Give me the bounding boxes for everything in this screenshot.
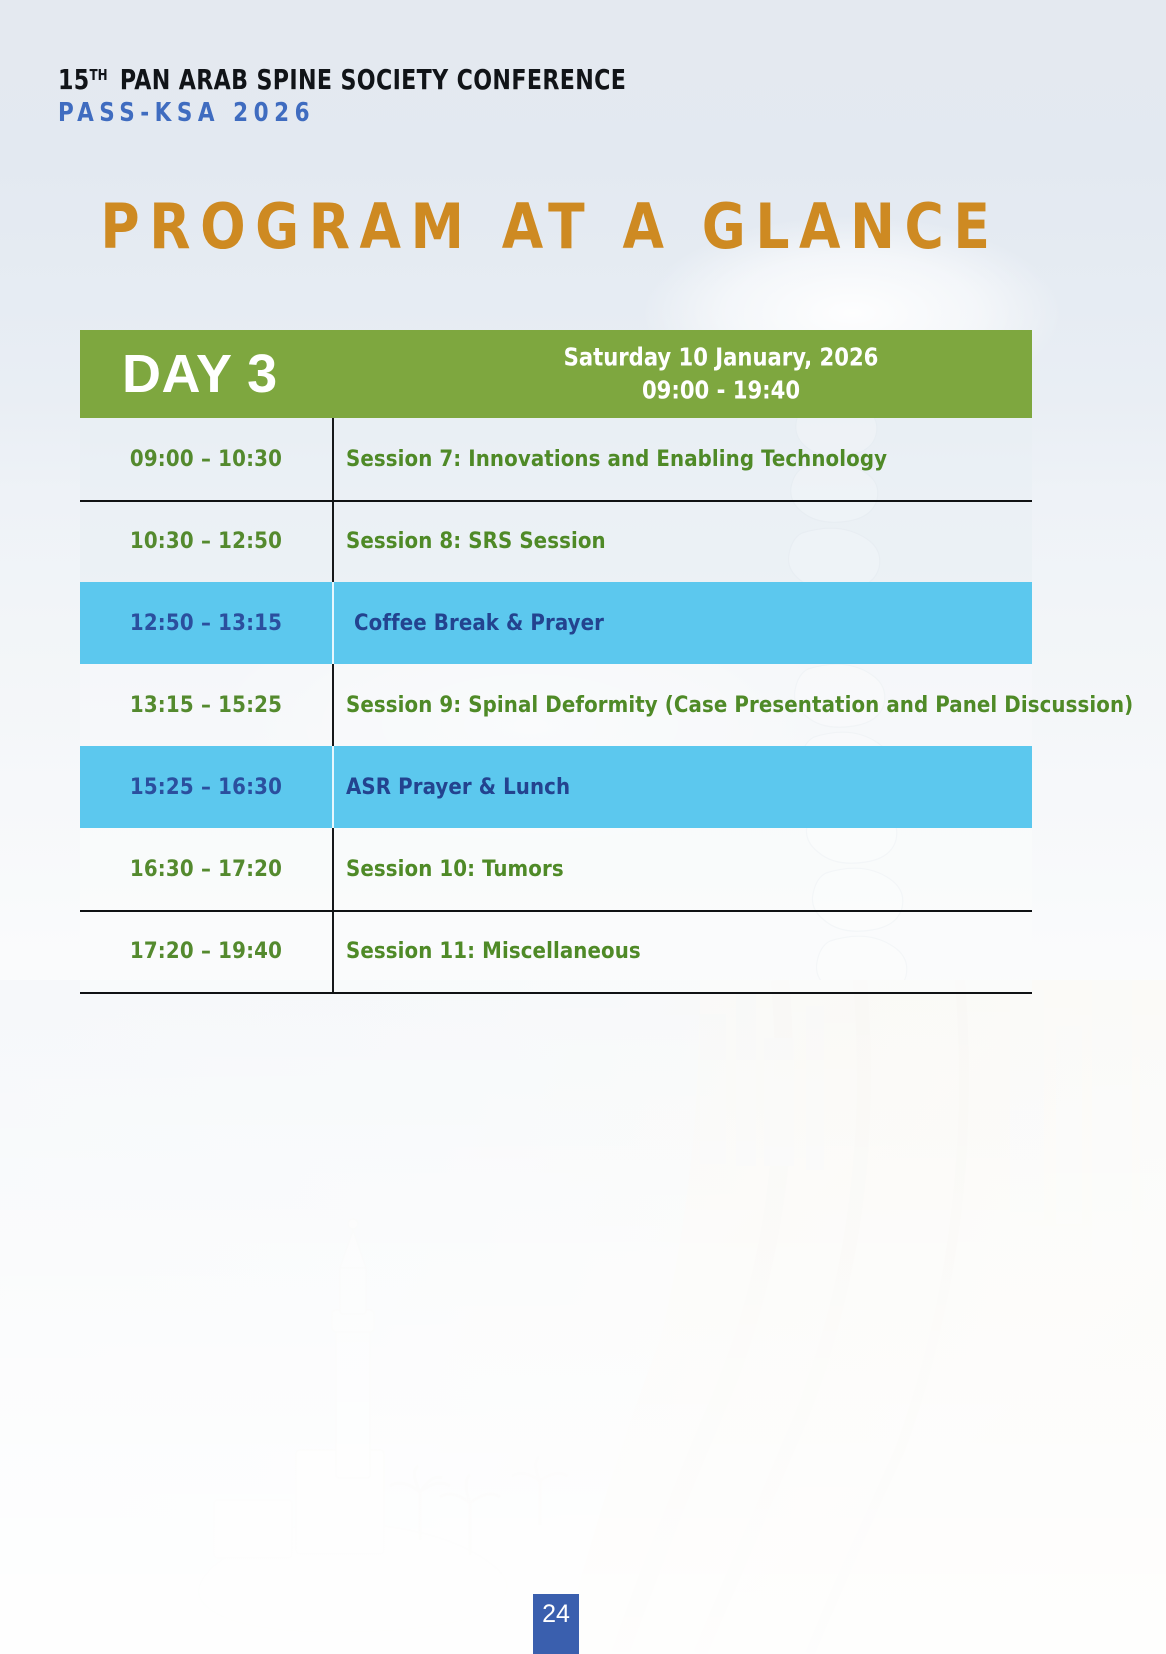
row-description: Session 10: Tumors [332, 857, 1032, 882]
column-divider [332, 582, 334, 664]
table-bottom-border [80, 992, 1032, 994]
conference-name-line: 15THPAN ARAB SPINE SOCIETY CONFERENCE [58, 66, 626, 94]
row-time: 13:15 – 15:25 [80, 693, 332, 718]
row-time: 16:30 – 17:20 [80, 857, 332, 882]
row-description: ASR Prayer & Lunch [332, 775, 1032, 800]
schedule-table: DAY 3 Saturday 10 January, 2026 09:00 - … [80, 330, 1032, 992]
schedule-rows: 09:00 – 10:30 Session 7: Innovations and… [80, 418, 1032, 992]
row-description: Session 9: Spinal Deformity (Case Presen… [332, 693, 1133, 718]
column-divider [332, 828, 334, 910]
row-description: Session 8: SRS Session [332, 529, 1032, 554]
row-description: Coffee Break & Prayer [332, 611, 1032, 636]
column-divider [332, 418, 334, 500]
program-page: 15THPAN ARAB SPINE SOCIETY CONFERENCE PA… [0, 0, 1166, 1654]
table-row[interactable]: 12:50 – 13:15 Coffee Break & Prayer [80, 582, 1032, 664]
row-description: Session 7: Innovations and Enabling Tech… [332, 447, 1032, 472]
row-time: 15:25 – 16:30 [80, 775, 332, 800]
conference-ordinal-suffix: TH [90, 66, 108, 84]
conference-edition: PASS-KSA 2026 [58, 100, 652, 126]
day-label: DAY 3 [122, 347, 278, 401]
masthead: 15THPAN ARAB SPINE SOCIETY CONFERENCE PA… [58, 66, 704, 126]
day-date-time: Saturday 10 January, 2026 09:00 - 19:40 [410, 342, 1032, 407]
column-divider [332, 746, 334, 828]
day-time-range: 09:00 - 19:40 [429, 374, 1014, 407]
row-time: 09:00 – 10:30 [80, 447, 332, 472]
page-number: 24 [533, 1594, 579, 1654]
conference-ordinal: 15 [58, 63, 90, 96]
table-row[interactable]: 16:30 – 17:20 Session 10: Tumors [80, 828, 1032, 910]
conference-name: PAN ARAB SPINE SOCIETY CONFERENCE [120, 63, 626, 96]
table-row[interactable]: 15:25 – 16:30 ASR Prayer & Lunch [80, 746, 1032, 828]
column-divider [332, 500, 334, 582]
table-row[interactable]: 13:15 – 15:25 Session 9: Spinal Deformit… [80, 664, 1032, 746]
row-time: 17:20 – 19:40 [80, 939, 332, 964]
page-title: PROGRAM AT A GLANCE [22, 196, 1078, 258]
row-divider [80, 500, 1032, 502]
row-divider [80, 910, 1032, 912]
table-row[interactable]: 17:20 – 19:40 Session 11: Miscellaneous [80, 910, 1032, 992]
column-divider [332, 910, 334, 992]
day-header: DAY 3 Saturday 10 January, 2026 09:00 - … [80, 330, 1032, 418]
row-time: 10:30 – 12:50 [80, 529, 332, 554]
background-wash [0, 980, 1166, 1654]
table-row[interactable]: 10:30 – 12:50 Session 8: SRS Session [80, 500, 1032, 582]
table-row[interactable]: 09:00 – 10:30 Session 7: Innovations and… [80, 418, 1032, 500]
day-date: Saturday 10 January, 2026 [429, 342, 1014, 375]
row-description: Session 11: Miscellaneous [332, 939, 1032, 964]
column-divider [332, 664, 334, 746]
row-time: 12:50 – 13:15 [80, 611, 332, 636]
